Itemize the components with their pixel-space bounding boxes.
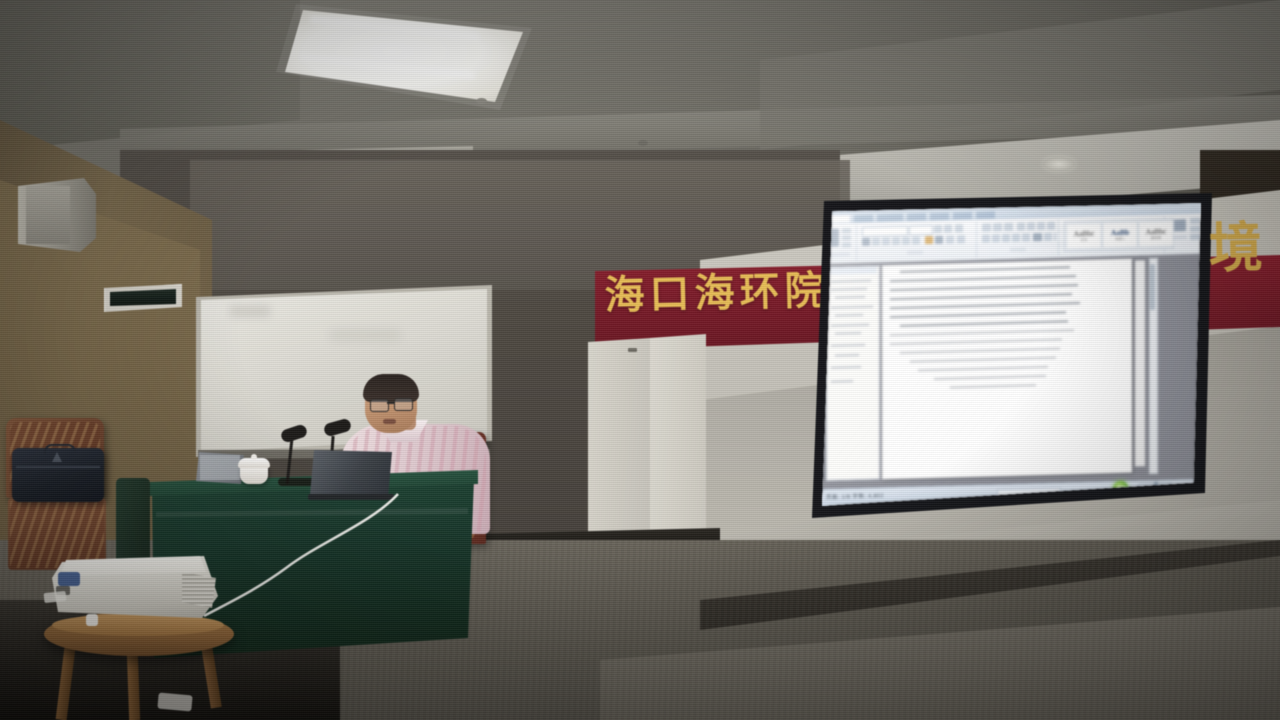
wall-speaker-grille	[26, 186, 70, 244]
change-styles-button[interactable]	[1174, 219, 1186, 231]
scrollbar-thumb[interactable]	[1150, 264, 1155, 310]
presenter-mouth	[383, 419, 396, 424]
smoke-detector-icon	[476, 98, 487, 104]
font-group-label	[907, 250, 923, 254]
shrink-font-button[interactable]	[944, 224, 952, 232]
superscript-button[interactable]	[912, 236, 920, 244]
ribbon-tab[interactable]	[930, 213, 949, 221]
projected-word-application: AaBbc 正文 AaBb 标题 1 AaBbc 副标题	[822, 203, 1201, 506]
ribbon-tab[interactable]	[976, 211, 995, 219]
italic-button[interactable]	[872, 237, 880, 245]
teacup-knob	[251, 454, 257, 460]
bag-handle-icon[interactable]	[44, 444, 76, 454]
laptop-hinge	[308, 494, 394, 500]
decrease-indent-button[interactable]	[1017, 223, 1025, 231]
align-left-button[interactable]	[982, 234, 990, 242]
projection-screen: AaBbc 正文 AaBb 标题 1 AaBbc 副标题	[822, 203, 1201, 506]
green-chair[interactable]	[116, 478, 150, 570]
netbook-screen	[200, 455, 240, 480]
style-normal[interactable]: AaBbc 正文	[1066, 222, 1102, 249]
show-marks-button[interactable]	[1047, 222, 1055, 230]
eyeglasses-icon	[394, 398, 413, 411]
clear-formatting-button[interactable]	[955, 224, 963, 232]
styles-group-label	[1173, 235, 1187, 239]
downlight-icon	[1043, 157, 1075, 171]
enclose-characters-button[interactable]	[957, 235, 965, 243]
ribbon-group-separator	[976, 222, 977, 258]
copy-button[interactable]	[842, 235, 851, 240]
conference-room-photo: 海口海环院环	[0, 0, 1280, 720]
ribbon-tab[interactable]	[953, 212, 972, 220]
stool-leg	[127, 652, 140, 720]
shading-button[interactable]	[1044, 233, 1052, 241]
navigation-pane-header	[827, 267, 877, 275]
style-heading-1[interactable]: AaBb 标题 1	[1102, 221, 1138, 248]
text-highlight-color-button[interactable]	[925, 236, 933, 244]
style-subtitle[interactable]: AaBbc 副标题	[1138, 220, 1174, 247]
projector-vga-port-icon[interactable]	[58, 572, 80, 586]
subscript-button[interactable]	[902, 237, 910, 245]
select-button[interactable]	[1190, 234, 1200, 240]
distribute-button[interactable]	[1022, 233, 1030, 241]
ribbon-tab[interactable]	[854, 215, 873, 223]
ribbon-tab[interactable]	[907, 213, 926, 221]
align-right-button[interactable]	[1002, 234, 1010, 242]
ribbon-group-separator	[1058, 220, 1059, 256]
font-color-button[interactable]	[935, 236, 943, 244]
status-bar-text: 页面: 1/8 字数: 4,802	[826, 491, 884, 501]
whiteboard-smudge	[330, 330, 400, 340]
wall-partition-panel[interactable]	[650, 334, 707, 542]
partition-handle-icon[interactable]	[628, 348, 637, 352]
strikethrough-button[interactable]	[892, 237, 900, 245]
banner-text-right: 境	[1208, 212, 1280, 324]
style-name: 正文	[1081, 237, 1088, 242]
borders-button[interactable]	[1054, 233, 1056, 241]
ceiling-fixture-icon	[638, 140, 648, 146]
replace-button[interactable]	[1190, 226, 1200, 232]
document-page-next	[1135, 260, 1145, 466]
find-button[interactable]	[1190, 218, 1200, 224]
font-name-box[interactable]	[862, 226, 908, 237]
eyeglasses-bridge	[387, 402, 394, 404]
clipboard-group-label	[830, 252, 850, 257]
ribbon-tab[interactable]	[830, 215, 850, 223]
increase-indent-button[interactable]	[1027, 222, 1035, 230]
align-center-button[interactable]	[992, 234, 1000, 242]
projector-foot	[86, 614, 98, 626]
grow-font-button[interactable]	[934, 225, 942, 233]
font-size-box[interactable]	[909, 225, 933, 236]
cut-button[interactable]	[842, 228, 851, 233]
paper-on-floor	[157, 693, 192, 712]
sort-button[interactable]	[1037, 222, 1045, 230]
numbering-button[interactable]	[993, 223, 1002, 231]
wall-partition-panel[interactable]	[588, 338, 651, 543]
multilevel-list-button[interactable]	[1004, 223, 1013, 231]
bullets-button[interactable]	[982, 223, 991, 231]
character-shading-button[interactable]	[946, 235, 954, 243]
bold-button[interactable]	[862, 238, 870, 246]
style-name: 标题 1	[1115, 236, 1125, 241]
style-preview: AaBb	[1111, 228, 1129, 236]
format-painter-button[interactable]	[842, 242, 851, 247]
bag-zipper-icon	[16, 466, 100, 468]
underline-button[interactable]	[882, 237, 890, 245]
eyeglasses-icon	[370, 399, 389, 412]
style-name: 副标题	[1151, 235, 1161, 240]
ribbon-group-separator	[856, 225, 857, 261]
ribbon-tab[interactable]	[877, 214, 903, 222]
armchair-seat-upholstery	[10, 500, 104, 568]
line-spacing-button[interactable]	[1033, 233, 1042, 241]
paragraph-group-label	[1010, 247, 1026, 251]
whiteboard-smudge	[230, 305, 270, 317]
justify-button[interactable]	[1012, 234, 1020, 242]
presenter-laptop[interactable]	[310, 450, 392, 498]
